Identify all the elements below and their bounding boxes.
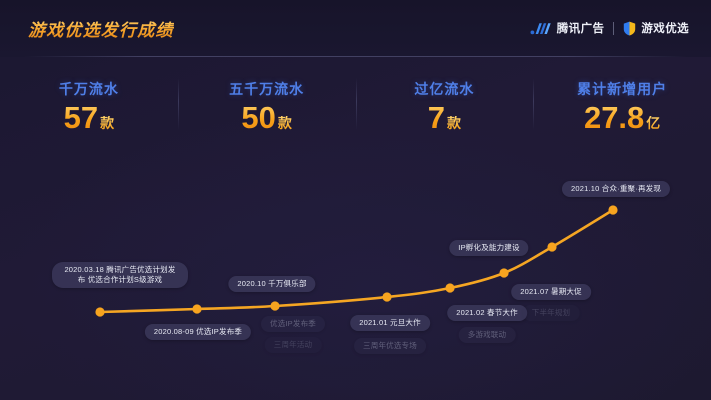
timeline-annotation-pill: 优选IP发布季 [261,316,325,332]
stat-label: 过亿流水 [414,79,474,99]
stat-unit: 亿 [646,116,660,130]
brand-youxiyouxuan: 游戏优选 [623,20,689,36]
stat-card-3: 累计新增用户 27.8 亿 [533,70,711,142]
tencent-ads-bars-icon [530,21,552,35]
curve-point[interactable] [547,242,556,251]
stat-number: 27.8 [584,102,644,133]
stat-card-2: 过亿流水 7 款 [356,70,534,142]
timeline-annotation-pill: 2021.07 暑期大促 [511,284,591,300]
brand-logos: 腾讯广告 游戏优选 [530,20,689,36]
stats-row: 千万流水 57 款 五千万流水 50 款 过亿流水 7 款 累计新增用户 27.… [0,70,711,142]
timeline-annotation-pill: 2020.10 千万俱乐部 [228,276,315,292]
curve-point[interactable] [445,283,454,292]
curve-point[interactable] [499,268,508,277]
header-bar: 游戏优选发行成绩 腾讯广告 [0,0,711,57]
timeline-annotation-pill: 多游戏联动 [459,327,516,343]
curve-point[interactable] [382,292,391,301]
header-divider [24,56,687,57]
timeline-annotation-pill: 2021.01 元旦大作 [350,315,430,331]
stat-label: 五千万流水 [229,79,304,99]
curve-point[interactable] [270,301,279,310]
stat-number: 7 [428,102,445,133]
stat-label: 千万流水 [59,79,119,99]
stat-value: 7 款 [428,102,461,133]
page-title: 游戏优选发行成绩 [28,16,174,41]
brand-tencent-ads-label: 腾讯广告 [557,20,605,36]
brand-youxiyouxuan-label: 游戏优选 [641,20,689,36]
stat-value: 50 款 [241,102,291,133]
timeline-annotation-pill: IP孵化及能力建设 [449,240,528,256]
stat-unit: 款 [447,116,461,130]
stat-value: 27.8 亿 [584,102,660,133]
stat-card-0: 千万流水 57 款 [0,70,178,142]
timeline-annotation-pill: 下半年规划 [523,305,580,321]
slide-root: 游戏优选发行成绩 腾讯广告 [0,0,711,400]
stat-unit: 款 [278,116,292,130]
curve-point[interactable] [608,205,617,214]
stat-card-1: 五千万流水 50 款 [178,70,356,142]
stat-number: 57 [64,102,98,133]
timeline-annotation-pill: 2021.10 合众·重聚·再发现 [562,181,670,197]
timeline-annotation-pill: 三周年优选专场 [354,338,426,354]
stat-number: 50 [241,102,275,133]
timeline-annotation-pill: 2020.08-09 优选IP发布季 [145,324,251,340]
youxiyouxuan-shield-icon [623,21,636,36]
stat-unit: 款 [100,116,114,130]
timeline-annotation-pill: 2021.02 春节大作 [447,305,527,321]
brand-tencent-ads: 腾讯广告 [530,20,605,36]
brand-divider [613,22,614,35]
timeline-annotation-pill: 三周年活动 [265,337,322,353]
curve-point[interactable] [95,307,104,316]
curve-point[interactable] [192,304,201,313]
stat-value: 57 款 [64,102,114,133]
timeline-annotation-pill: 2020.03.18 腾讯广告优选计划发布 优选合作计划S级游戏 [52,262,188,288]
timeline-chart: 2020.03.18 腾讯广告优选计划发布 优选合作计划S级游戏2020.08-… [0,150,711,400]
stat-label: 累计新增用户 [577,79,667,99]
